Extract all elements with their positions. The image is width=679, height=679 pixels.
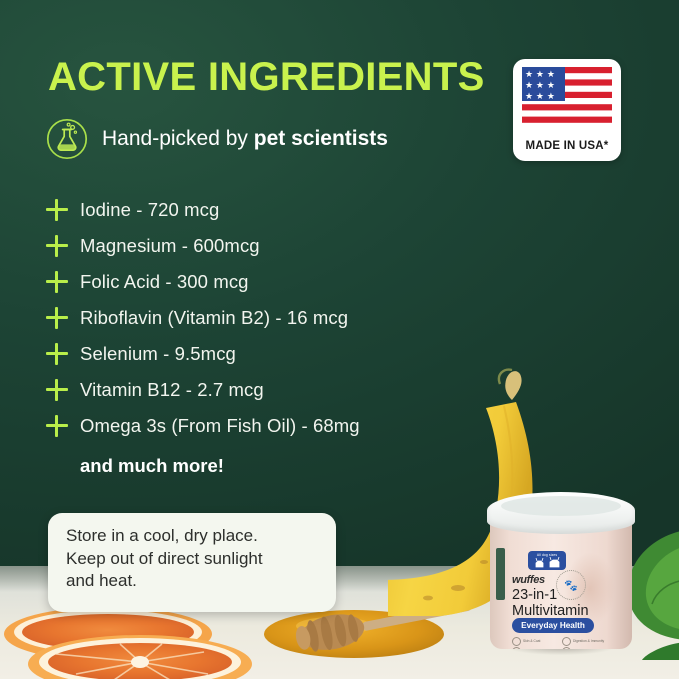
jar-benefit-item: Heart Health (562, 647, 606, 649)
benefit-label: Skin & Coat (523, 640, 540, 643)
jar-product-name: 23-in-1 Multivitamin (512, 588, 589, 619)
ingredient-label: Selenium - 9.5mcg (80, 343, 236, 365)
list-item: Magnesium - 600mcg (44, 228, 474, 264)
plus-icon (44, 377, 70, 403)
made-in-usa-caption: MADE IN USA* (513, 140, 621, 152)
plus-icon (44, 233, 70, 259)
ingredient-label: Vitamin B12 - 2.7 mcg (80, 379, 264, 401)
jar-benefit-list: Skin & Coat Digestion & Immunity Hips & … (512, 637, 612, 649)
jar-body: All dog sizes 🐾 wuffes 23-in-1 Multivita… (490, 518, 632, 649)
subtitle-row: Hand-picked by pet scientists (46, 118, 388, 160)
jar-brand: wuffes (512, 574, 545, 586)
list-item: Riboflavin (Vitamin B2) - 16 mcg (44, 300, 474, 336)
storage-note-card: Store in a cool, dry place. Keep out of … (48, 513, 336, 612)
storage-note-text: Store in a cool, dry place. Keep out of … (66, 525, 320, 593)
benefit-icon (562, 637, 571, 646)
list-item: Folic Acid - 300 mcg (44, 264, 474, 300)
jar-side-strip (496, 548, 505, 600)
page-title: ACTIVE INGREDIENTS (48, 56, 485, 98)
jar-benefit-item: Digestion & Immunity (562, 637, 606, 646)
list-item: Vitamin B12 - 2.7 mcg (44, 372, 474, 408)
benefit-icon (512, 637, 521, 646)
ingredient-label: Riboflavin (Vitamin B2) - 16 mcg (80, 307, 348, 329)
ingredient-label: Magnesium - 600mcg (80, 235, 260, 257)
flask-icon (46, 118, 88, 160)
plus-icon (44, 197, 70, 223)
subtitle-text: Hand-picked by pet scientists (102, 127, 388, 151)
list-item: Omega 3s (From Fish Oil) - 68mg (44, 408, 474, 444)
jar-benefit-item: Hips & Joints (512, 647, 556, 649)
and-much-more-text: and much more! (80, 455, 224, 477)
subtitle-plain: Hand-picked by (102, 127, 254, 150)
jar-size-badge-label: All dog sizes (528, 553, 566, 557)
usa-flag-icon: ★ ★ ★ ★ ★ ★ ★ ★ ★ (522, 67, 612, 129)
plus-icon (44, 305, 70, 331)
benefit-icon (562, 647, 571, 649)
jar-claim-pill: Everyday Health (512, 618, 594, 633)
subtitle-bold: pet scientists (254, 127, 388, 150)
jar-size-badge: All dog sizes (528, 551, 566, 570)
product-jar: All dog sizes 🐾 wuffes 23-in-1 Multivita… (487, 492, 635, 657)
ingredient-label: Iodine - 720 mcg (80, 199, 219, 221)
plus-icon (44, 341, 70, 367)
list-item: Iodine - 720 mcg (44, 192, 474, 228)
jar-benefit-item: Skin & Coat (512, 637, 556, 646)
ingredient-label: Folic Acid - 300 mcg (80, 271, 249, 293)
jar-lid-top (501, 496, 621, 516)
ingredients-list: Iodine - 720 mcg Magnesium - 600mcg Foli… (44, 192, 474, 444)
plus-icon (44, 413, 70, 439)
list-item: Selenium - 9.5mcg (44, 336, 474, 372)
svg-text:★ ★ ★: ★ ★ ★ (525, 81, 555, 91)
ingredient-label: Omega 3s (From Fish Oil) - 68mg (80, 415, 360, 437)
svg-text:★ ★ ★: ★ ★ ★ (525, 92, 555, 102)
benefit-icon (512, 647, 521, 649)
plus-icon (44, 269, 70, 295)
benefit-label: Digestion & Immunity (573, 640, 604, 643)
marketing-image: All dog sizes 🐾 wuffes 23-in-1 Multivita… (0, 0, 679, 679)
jar-claim-label: Everyday Health (521, 621, 585, 630)
made-in-usa-badge: ★ ★ ★ ★ ★ ★ ★ ★ ★ MADE IN USA* (513, 59, 621, 161)
svg-text:★ ★ ★: ★ ★ ★ (525, 70, 555, 80)
jar-lid (487, 492, 635, 534)
